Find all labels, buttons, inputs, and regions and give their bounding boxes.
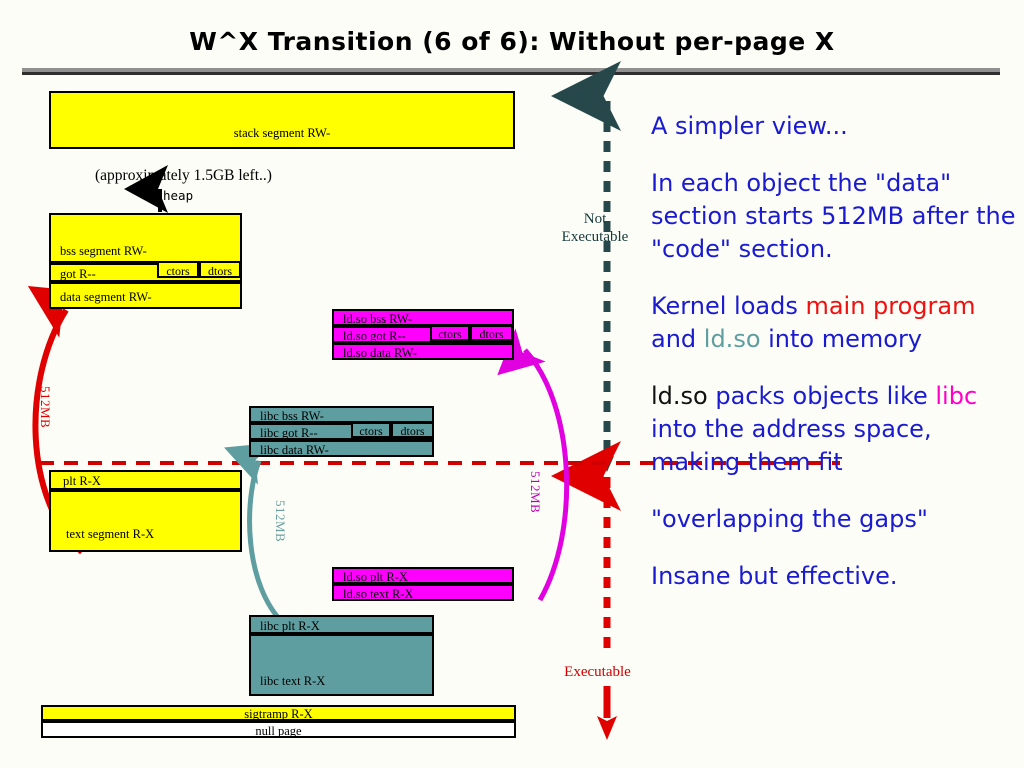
block-null-page: null page — [41, 721, 516, 738]
block-label-data: data segment RW- — [60, 290, 152, 305]
block-label-stack: stack segment RW- — [51, 126, 513, 141]
block-label-ldso-got: ld.so got R-- — [343, 329, 406, 343]
block-label-libc-text: libc text R-X — [260, 674, 325, 689]
block-label-null-page: null page — [43, 724, 514, 738]
note-paragraph-3: Kernel loads main program and ld.so into… — [651, 290, 1019, 356]
block-text-segment: text segment R-X — [49, 490, 242, 552]
note3-main-program: main program — [805, 292, 975, 320]
title-divider — [22, 68, 1000, 75]
block-ldso-plt: ld.so plt R-X — [332, 567, 514, 584]
note3-pre: Kernel loads — [651, 292, 805, 320]
gap-label-main-512mb: 512MB — [37, 386, 53, 428]
note3-ldso: ld.so — [704, 325, 761, 353]
block-label-libc-got: libc got R-- — [260, 426, 318, 440]
block-stack-segment: stack segment RW- — [49, 91, 515, 149]
note-paragraph-2: In each object the "data" section starts… — [651, 167, 1019, 266]
block-label-bss: bss segment RW- — [60, 244, 147, 259]
block-ldso-ctors: ctors — [430, 325, 470, 341]
note-paragraph-6: Insane but effective. — [651, 560, 1019, 593]
block-label-ldso-data: ld.so data RW- — [343, 346, 417, 360]
not-executable-label: Not Executable — [552, 210, 638, 246]
block-label-ldso-bss: ld.so bss RW- — [343, 312, 412, 326]
block-ctors: ctors — [157, 261, 199, 278]
block-libc-dtors: dtors — [391, 422, 434, 438]
block-data-segment: data segment RW- — [49, 282, 242, 309]
block-plt: plt R-X — [49, 470, 242, 490]
block-label-libc-plt: libc plt R-X — [260, 619, 320, 634]
gap-label-libc-512mb: 512MB — [272, 500, 288, 542]
block-dtors: dtors — [199, 261, 241, 278]
note4-ldso: ld.so — [651, 382, 708, 410]
page-title: W^X Transition (6 of 6): Without per-pag… — [0, 27, 1024, 56]
notes-panel: A simpler view... In each object the "da… — [651, 110, 1019, 593]
note-paragraph-5: "overlapping the gaps" — [651, 503, 1019, 536]
executable-label: Executable — [540, 664, 655, 681]
note3-mid: and — [651, 325, 704, 353]
note4-libc: libc — [935, 382, 977, 410]
block-label-plt: plt R-X — [63, 474, 101, 489]
not-executable-line1: Not — [552, 210, 638, 228]
block-label-sigtramp: sigtramp R-X — [43, 707, 514, 721]
note3-post: into memory — [761, 325, 923, 353]
heap-label: heap — [163, 188, 193, 203]
note-paragraph-1: A simpler view... — [651, 110, 1019, 143]
block-bss-segment: bss segment RW- — [49, 213, 242, 263]
block-libc-text: libc text R-X — [249, 634, 434, 696]
block-libc-plt: libc plt R-X — [249, 615, 434, 634]
block-libc-data: libc data RW- — [249, 440, 434, 457]
note4-pre: packs objects like — [708, 382, 936, 410]
block-label-text: text segment R-X — [66, 527, 154, 542]
not-executable-line2: Executable — [552, 228, 638, 246]
block-label-libc-data: libc data RW- — [260, 443, 329, 457]
gap-note: (approximately 1.5GB left..) — [95, 167, 272, 185]
block-ldso-dtors: dtors — [470, 325, 513, 341]
block-ldso-bss: ld.so bss RW- — [332, 309, 514, 326]
block-sigtramp: sigtramp R-X — [41, 705, 516, 721]
block-libc-ctors: ctors — [351, 422, 391, 438]
block-label-got: got R-- — [60, 267, 96, 282]
block-label-libc-bss: libc bss RW- — [260, 409, 324, 423]
note4-post: into the address space, making them fit — [651, 415, 932, 476]
block-label-ldso-text: ld.so text R-X — [343, 587, 413, 601]
block-libc-bss: libc bss RW- — [249, 406, 434, 423]
block-ldso-data: ld.so data RW- — [332, 343, 514, 360]
note-paragraph-4: ld.so packs objects like libc into the a… — [651, 380, 1019, 479]
gap-label-ldso-512mb: 512MB — [527, 471, 543, 513]
block-label-ldso-plt: ld.so plt R-X — [343, 570, 408, 584]
block-ldso-text: ld.so text R-X — [332, 584, 514, 601]
